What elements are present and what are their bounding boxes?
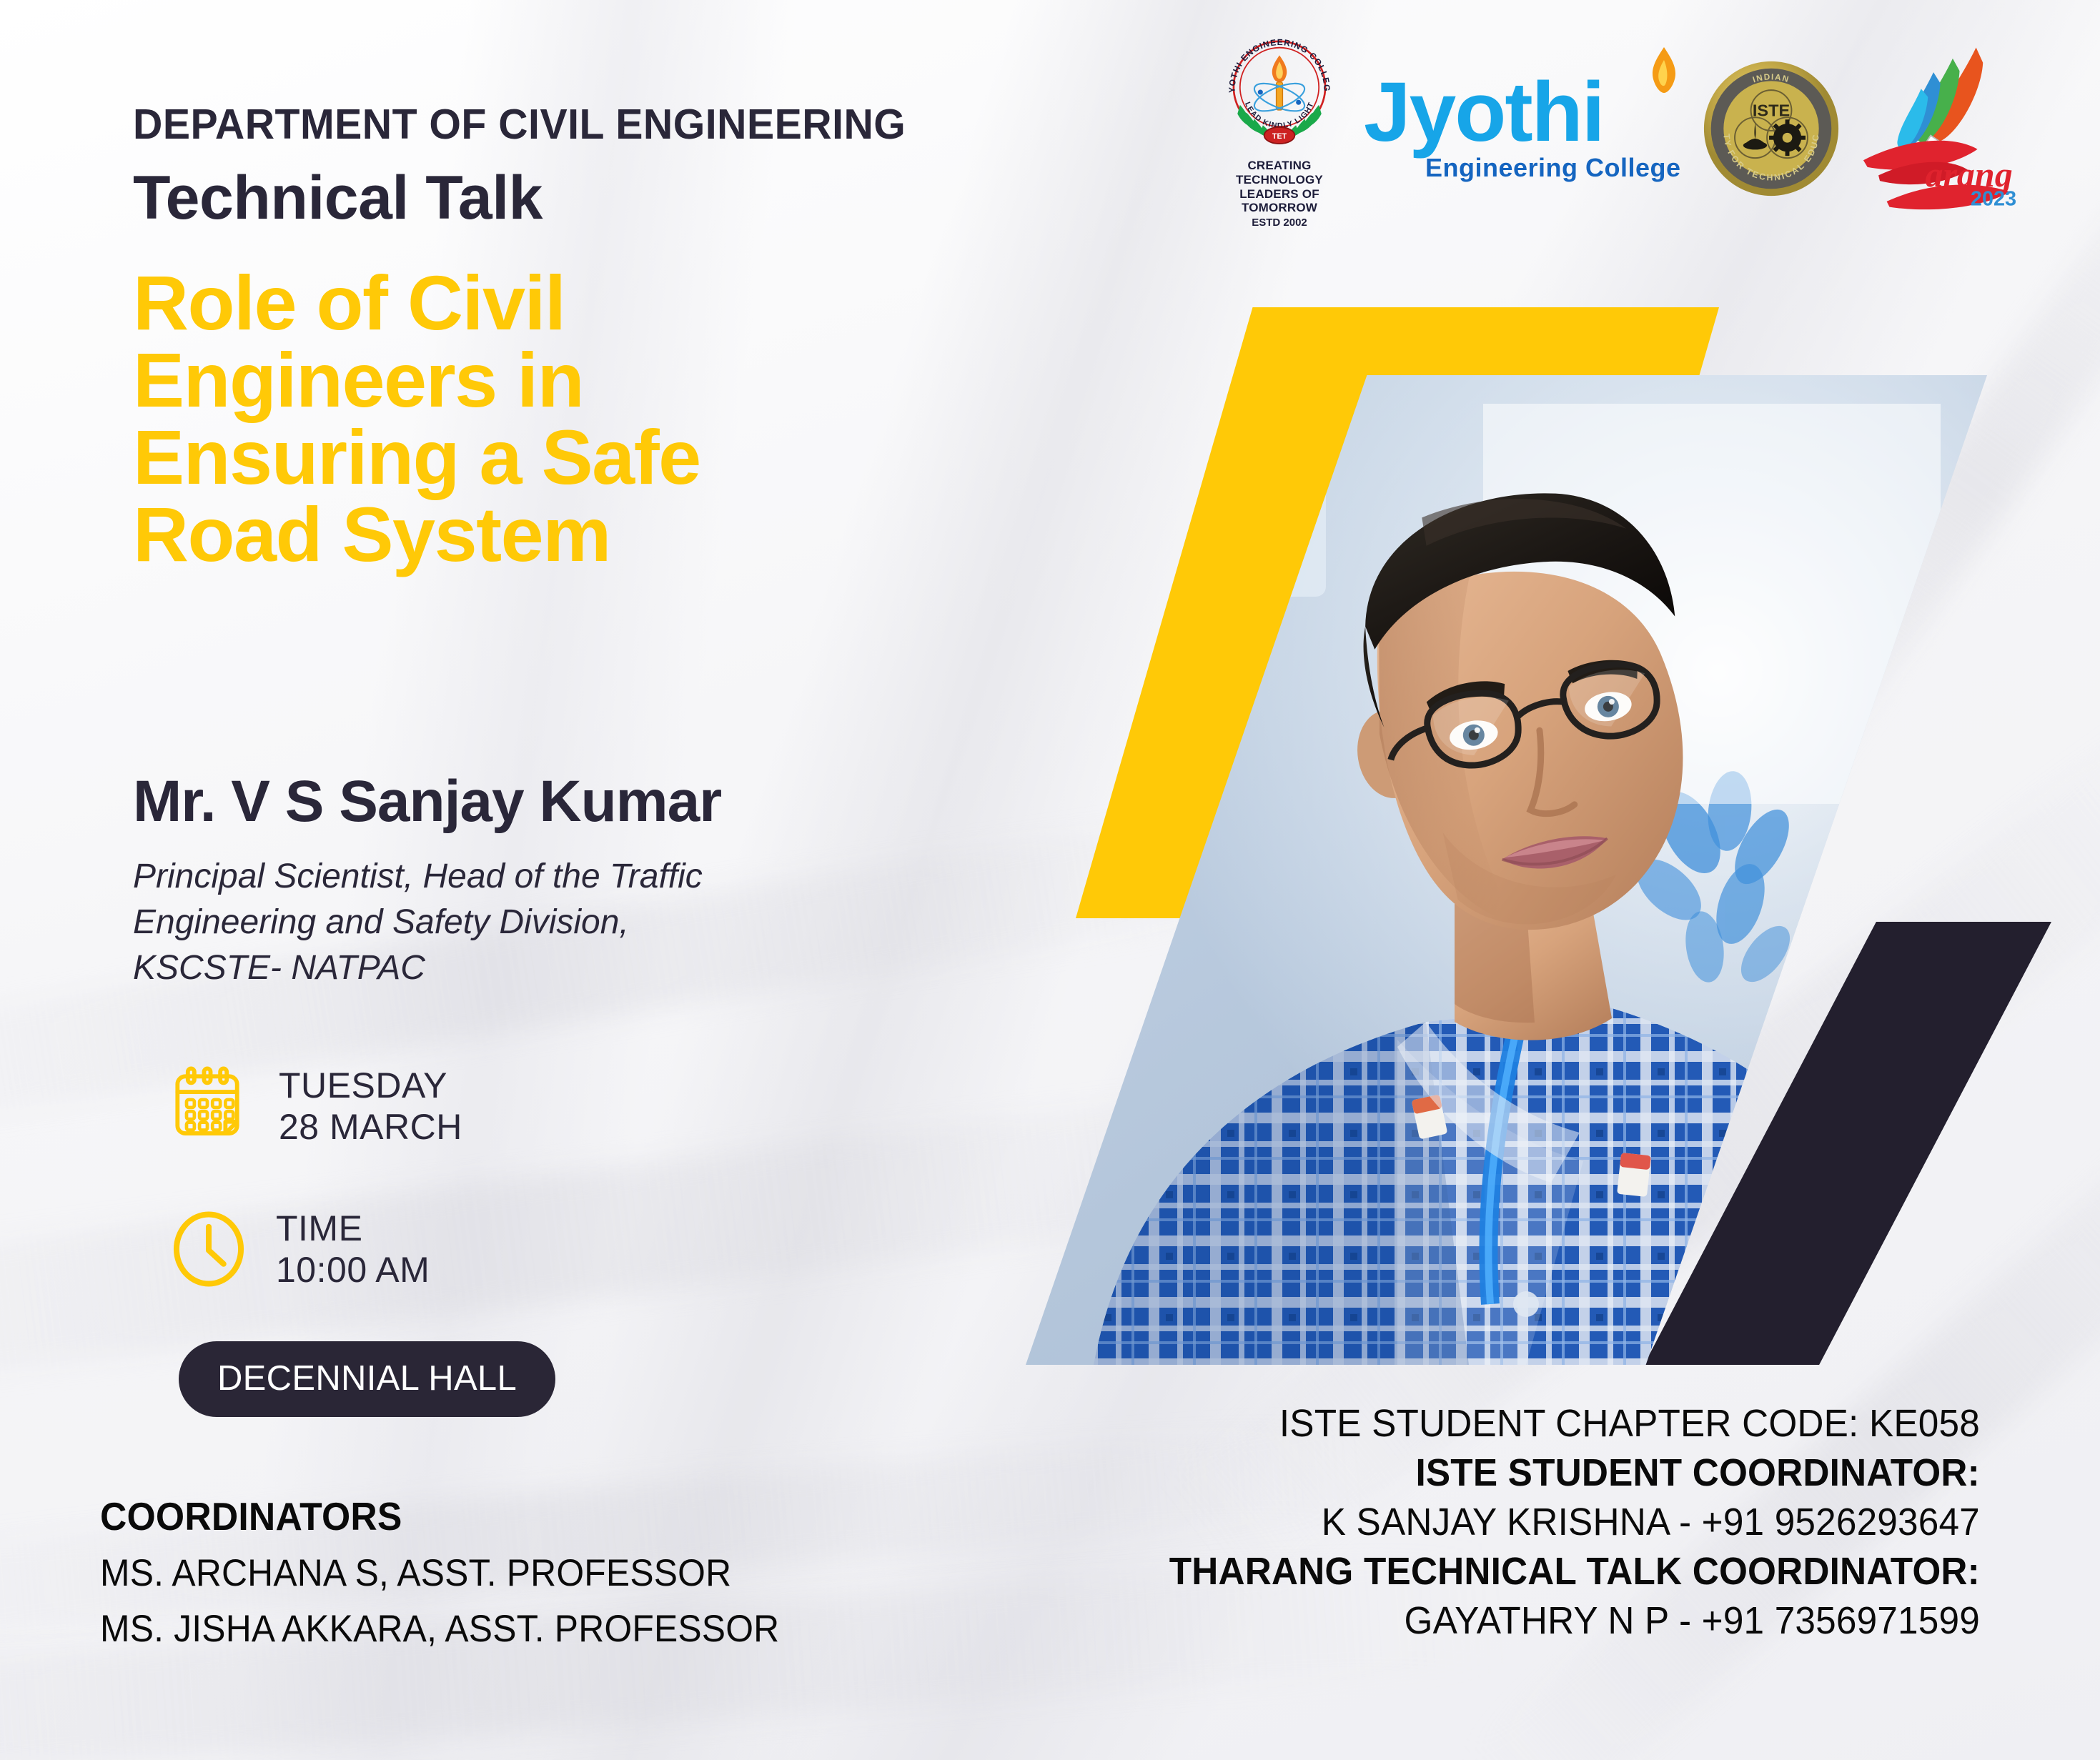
title-line-3: Ensuring a Safe (133, 419, 1091, 496)
speaker-name: Mr. V S Sanjay Kumar (133, 768, 721, 835)
calendar-icon (166, 1065, 249, 1148)
tharang-coordinator-label: THARANG TECHNICAL TALK COORDINATOR: (1169, 1547, 1980, 1596)
seal-tagline: CREATING TECHNOLOGY LEADERS OF TOMORROW (1215, 159, 1344, 214)
coordinator-name-1: MS. ARCHANA S, ASST. PROFESSOR (100, 1551, 779, 1595)
contacts-block: ISTE STUDENT CHAPTER CODE: KE058 ISTE ST… (1126, 1399, 1980, 1646)
tharang-logo-icon: arang 2023 (1861, 39, 2041, 218)
jyothi-wordmark-logo: Jyothi Engineering College (1364, 74, 1681, 183)
tharang-coordinator-value: GAYATHRY N P - +91 7356971599 (1169, 1596, 1980, 1646)
logo-row: JYOTHI ENGINEERING COLLEGE LEAD KINDLY L… (1215, 39, 2066, 218)
page-title: Role of Civil Engineers in Ensuring a Sa… (133, 264, 1091, 573)
event-date: 28 MARCH (279, 1106, 462, 1148)
speaker-designation: Principal Scientist, Head of the Traffic… (133, 854, 703, 990)
svg-text:ISTE: ISTE (1752, 101, 1789, 119)
poster-canvas: JYOTHI ENGINEERING COLLEGE LEAD KINDLY L… (0, 0, 2100, 1760)
coordinators-heading: COORDINATORS (100, 1493, 779, 1539)
iste-coordinator-label: ISTE STUDENT COORDINATOR: (1169, 1448, 1980, 1498)
venue-badge: DECENNIAL HALL (179, 1341, 555, 1417)
time-text: TIME 10:00 AM (276, 1208, 430, 1291)
seal-tagline-line2: LEADERS OF TOMORROW (1215, 187, 1344, 215)
department-heading: DEPARTMENT OF CIVIL ENGINEERING (133, 100, 906, 149)
title-line-4: Road System (133, 496, 1091, 573)
tharang-year: 2023 (1970, 188, 2016, 211)
speaker-designation-line-2: Engineering and Safety Division, (133, 900, 703, 945)
jyothi-wordmark-text: Jyothi (1364, 74, 1604, 150)
tharang-logo: arang 2023 (1861, 39, 2041, 218)
coordinator-name-2: MS. JISHA AKKARA, ASST. PROFESSOR (100, 1607, 779, 1651)
svg-text:JYOTHI ENGINEERING COLLEGE: JYOTHI ENGINEERING COLLEGE (1216, 29, 1332, 93)
date-row: TUESDAY 28 MARCH (166, 1065, 462, 1148)
coordinators-block: COORDINATORS MS. ARCHANA S, ASST. PROFES… (100, 1493, 823, 1651)
svg-text:TET: TET (1272, 132, 1287, 141)
title-line-1: Role of Civil (133, 264, 1091, 342)
iste-medallion-logo: INDIAN SOCIETY FOR TECHNICAL EDUCATION I… (1701, 59, 1841, 199)
iste-chapter-code: ISTE STUDENT CHAPTER CODE: KE058 (1169, 1399, 1980, 1448)
time-label: TIME (276, 1208, 430, 1249)
iste-medallion-icon: INDIAN SOCIETY FOR TECHNICAL EDUCATION I… (1701, 59, 1841, 199)
time-row: TIME 10:00 AM (172, 1208, 430, 1291)
flame-icon (1643, 44, 1685, 100)
seal-tagline-line1: CREATING TECHNOLOGY (1215, 159, 1344, 187)
clock-icon (172, 1209, 246, 1289)
event-day: TUESDAY (279, 1065, 462, 1106)
time-value: 10:00 AM (276, 1249, 430, 1291)
title-line-2: Engineers in (133, 342, 1091, 419)
college-seal-logo: JYOTHI ENGINEERING COLLEGE LEAD KINDLY L… (1215, 29, 1344, 228)
speaker-photo-composition (1001, 286, 2100, 1365)
talk-type-heading: Technical Talk (133, 163, 543, 234)
date-text: TUESDAY 28 MARCH (279, 1065, 462, 1148)
seal-estd: ESTD 2002 (1252, 217, 1307, 229)
jyothi-college-seal-icon: JYOTHI ENGINEERING COLLEGE LEAD KINDLY L… (1216, 29, 1343, 156)
iste-coordinator-value: K SANJAY KRISHNA - +91 9526293647 (1169, 1498, 1980, 1547)
speaker-designation-line-3: KSCSTE- NATPAC (133, 945, 703, 991)
speaker-designation-line-1: Principal Scientist, Head of the Traffic (133, 854, 703, 900)
